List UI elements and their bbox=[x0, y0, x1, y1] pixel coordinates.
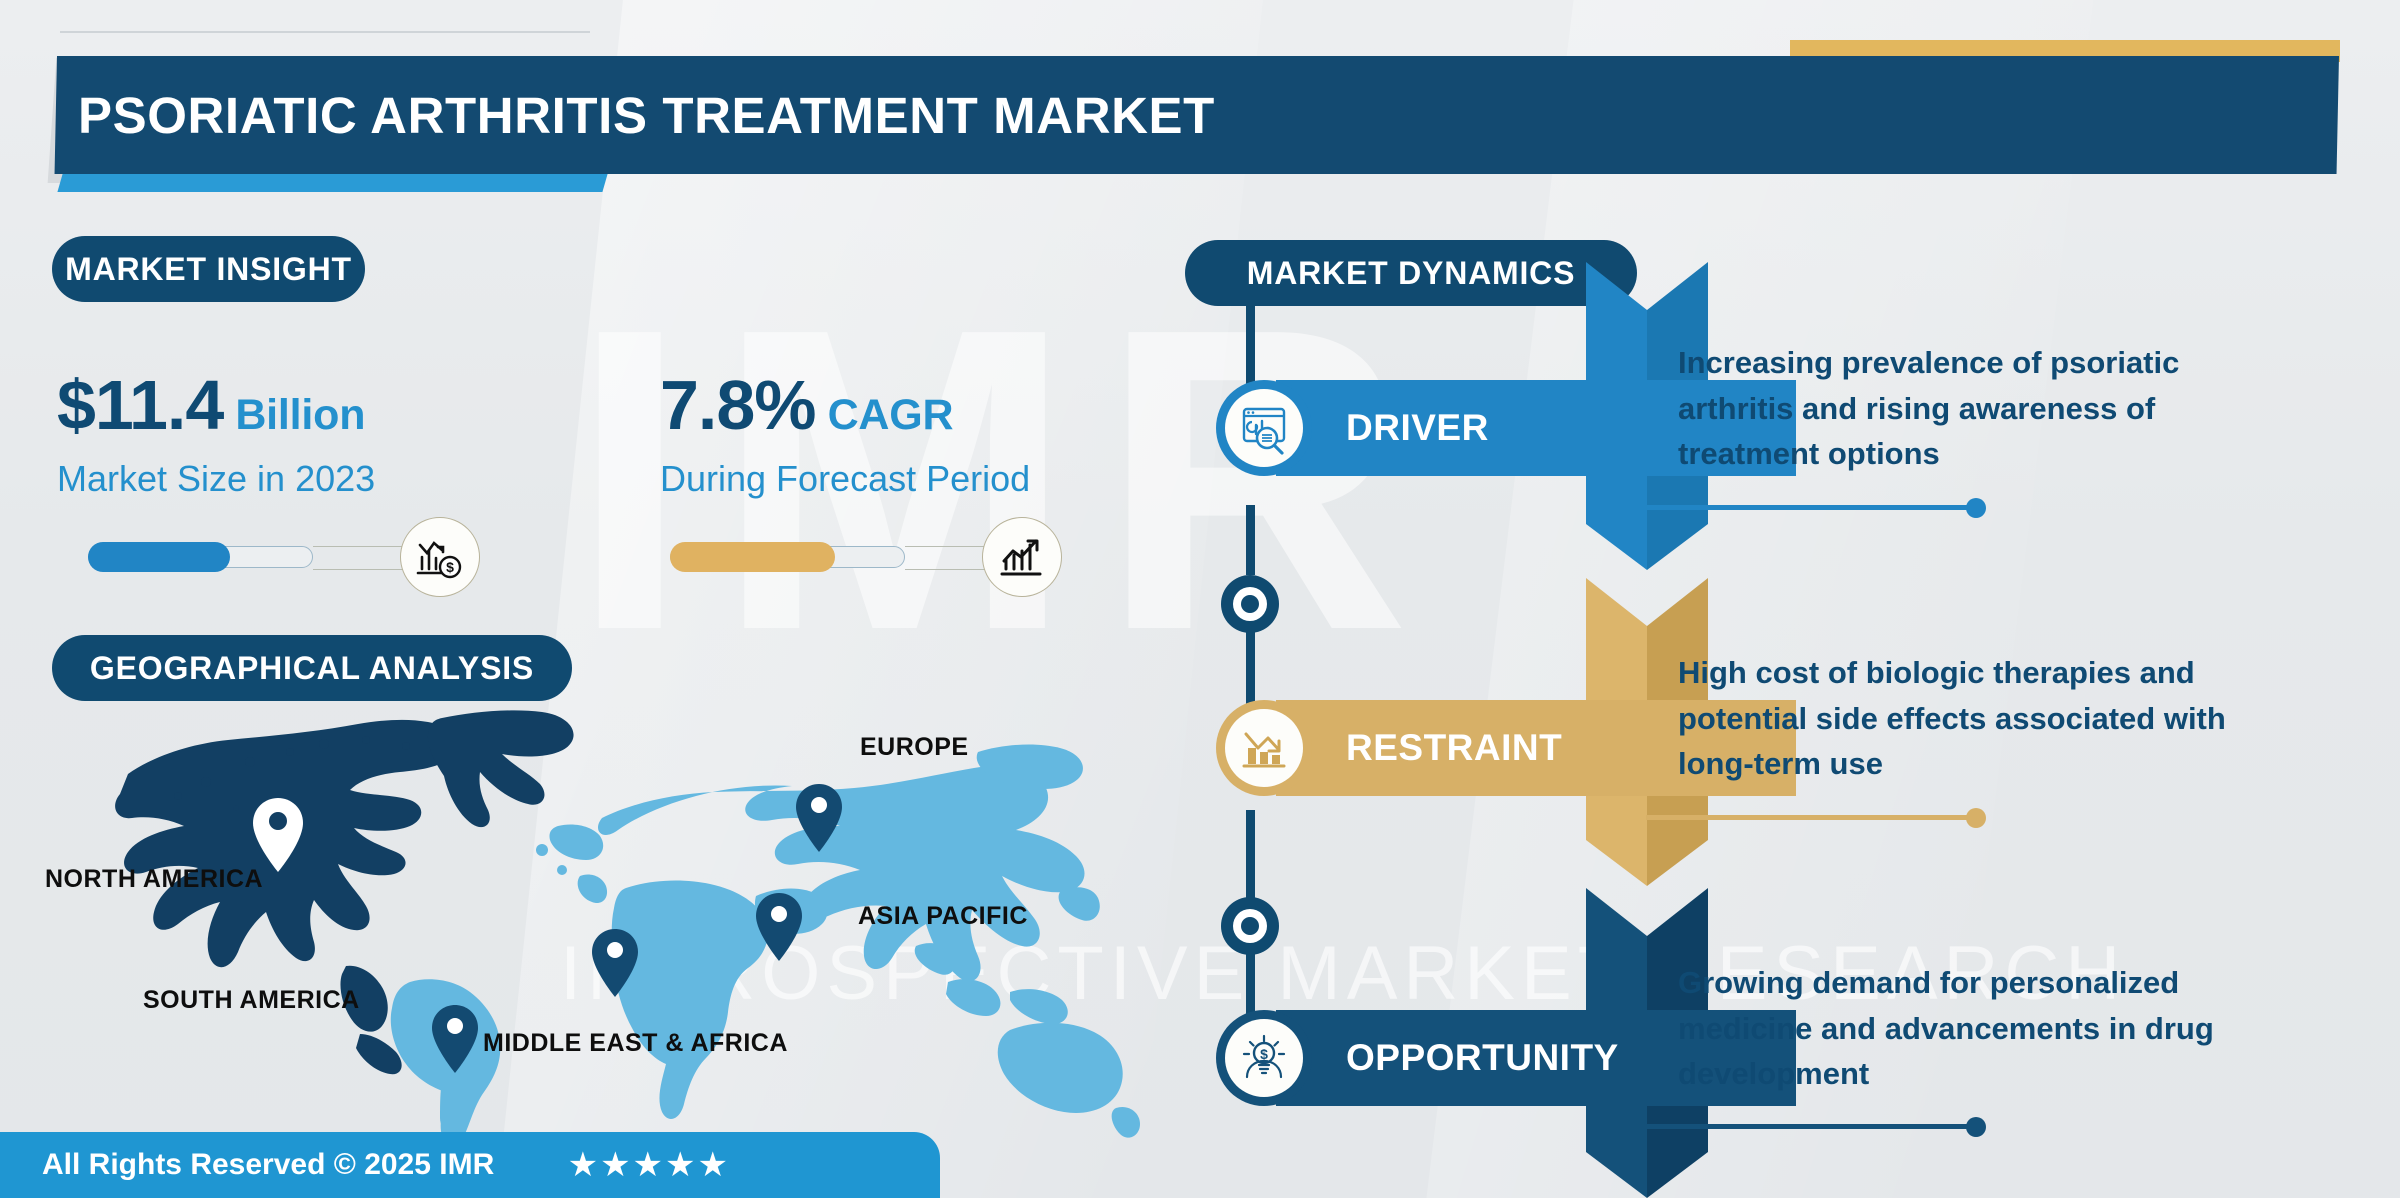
timeline-node-2 bbox=[1221, 897, 1279, 955]
infographic-canvas: IMR INTROSPECTIVE MARKET RESEARCH PSORIA… bbox=[0, 0, 2400, 1198]
market-insight-pill: MARKET INSIGHT bbox=[52, 236, 365, 302]
lightbulb-dollar-icon: $ bbox=[1225, 1019, 1303, 1097]
kpi-market-size: $11.4Billion Market Size in 2023 bbox=[57, 370, 487, 500]
header-blue-accent-square bbox=[125, 174, 600, 192]
opportunity-icon-badge: $ bbox=[1216, 1010, 1312, 1106]
svg-text:$: $ bbox=[446, 559, 454, 575]
kpi-market-size-subtitle: Market Size in 2023 bbox=[57, 458, 487, 500]
kpi-market-size-value: $11.4 bbox=[57, 366, 223, 444]
restraint-underline bbox=[1646, 815, 1976, 820]
map-label-asia-pacific: ASIA PACIFIC bbox=[858, 902, 1028, 931]
kpi-cagr-value: 7.8% bbox=[660, 366, 816, 444]
bar-chart-dollar-icon: $ bbox=[400, 517, 480, 597]
timeline-connector-4 bbox=[1246, 810, 1255, 900]
restraint-label: RESTRAINT bbox=[1346, 700, 1562, 796]
driver-underline bbox=[1646, 505, 1976, 510]
kpi-cagr: 7.8%CAGR During Forecast Period bbox=[660, 370, 1130, 500]
opportunity-description: Growing demand for personalized medicine… bbox=[1678, 960, 2278, 1097]
market-dynamics-pill: MARKET DYNAMICS bbox=[1185, 240, 1637, 306]
progress-fill-market-size bbox=[88, 542, 230, 572]
map-label-middle-east-africa: MIDDLE EAST & AFRICA bbox=[483, 1029, 788, 1058]
kpi-cagr-unit: CAGR bbox=[828, 391, 954, 439]
restraint-description: High cost of biologic therapies and pote… bbox=[1678, 650, 2278, 787]
footer-bar: All Rights Reserved © 2025 IMR ★★★★★ bbox=[0, 1132, 940, 1198]
map-label-north-america: NORTH AMERICA bbox=[45, 865, 263, 894]
header-rule bbox=[60, 31, 590, 33]
growth-arrow-chart-icon bbox=[982, 517, 1062, 597]
kpi-market-size-unit: Billion bbox=[235, 391, 365, 439]
map-label-europe: EUROPE bbox=[860, 733, 969, 762]
rating-stars: ★★★★★ bbox=[568, 1145, 730, 1185]
opportunity-underline bbox=[1646, 1124, 1976, 1129]
driver-icon-badge bbox=[1216, 380, 1312, 476]
map-region-australia bbox=[998, 1023, 1140, 1138]
restraint-icon-badge bbox=[1216, 700, 1312, 796]
driver-description: Increasing prevalence of psoriatic arthr… bbox=[1678, 340, 2278, 477]
progress-track-cagr bbox=[670, 546, 905, 568]
svg-text:$: $ bbox=[1260, 1046, 1268, 1062]
driver-label: DRIVER bbox=[1346, 380, 1489, 476]
timeline-node-1 bbox=[1221, 575, 1279, 633]
kpi-cagr-subtitle: During Forecast Period bbox=[660, 458, 1130, 500]
declining-bar-chart-icon bbox=[1225, 709, 1303, 787]
timeline-connector-2 bbox=[1246, 505, 1255, 575]
page-title: PSORIATIC ARTHRITIS TREATMENT MARKET bbox=[0, 56, 2400, 174]
copyright-text: All Rights Reserved © 2025 IMR bbox=[42, 1148, 494, 1182]
dashboard-magnifier-icon bbox=[1225, 389, 1303, 467]
progress-track-market-size bbox=[88, 546, 313, 568]
map-label-south-america: SOUTH AMERICA bbox=[143, 986, 360, 1015]
progress-fill-cagr bbox=[670, 542, 835, 572]
geographical-analysis-pill: GEOGRAPHICAL ANALYSIS bbox=[52, 635, 572, 701]
opportunity-label: OPPORTUNITY bbox=[1346, 1010, 1619, 1106]
